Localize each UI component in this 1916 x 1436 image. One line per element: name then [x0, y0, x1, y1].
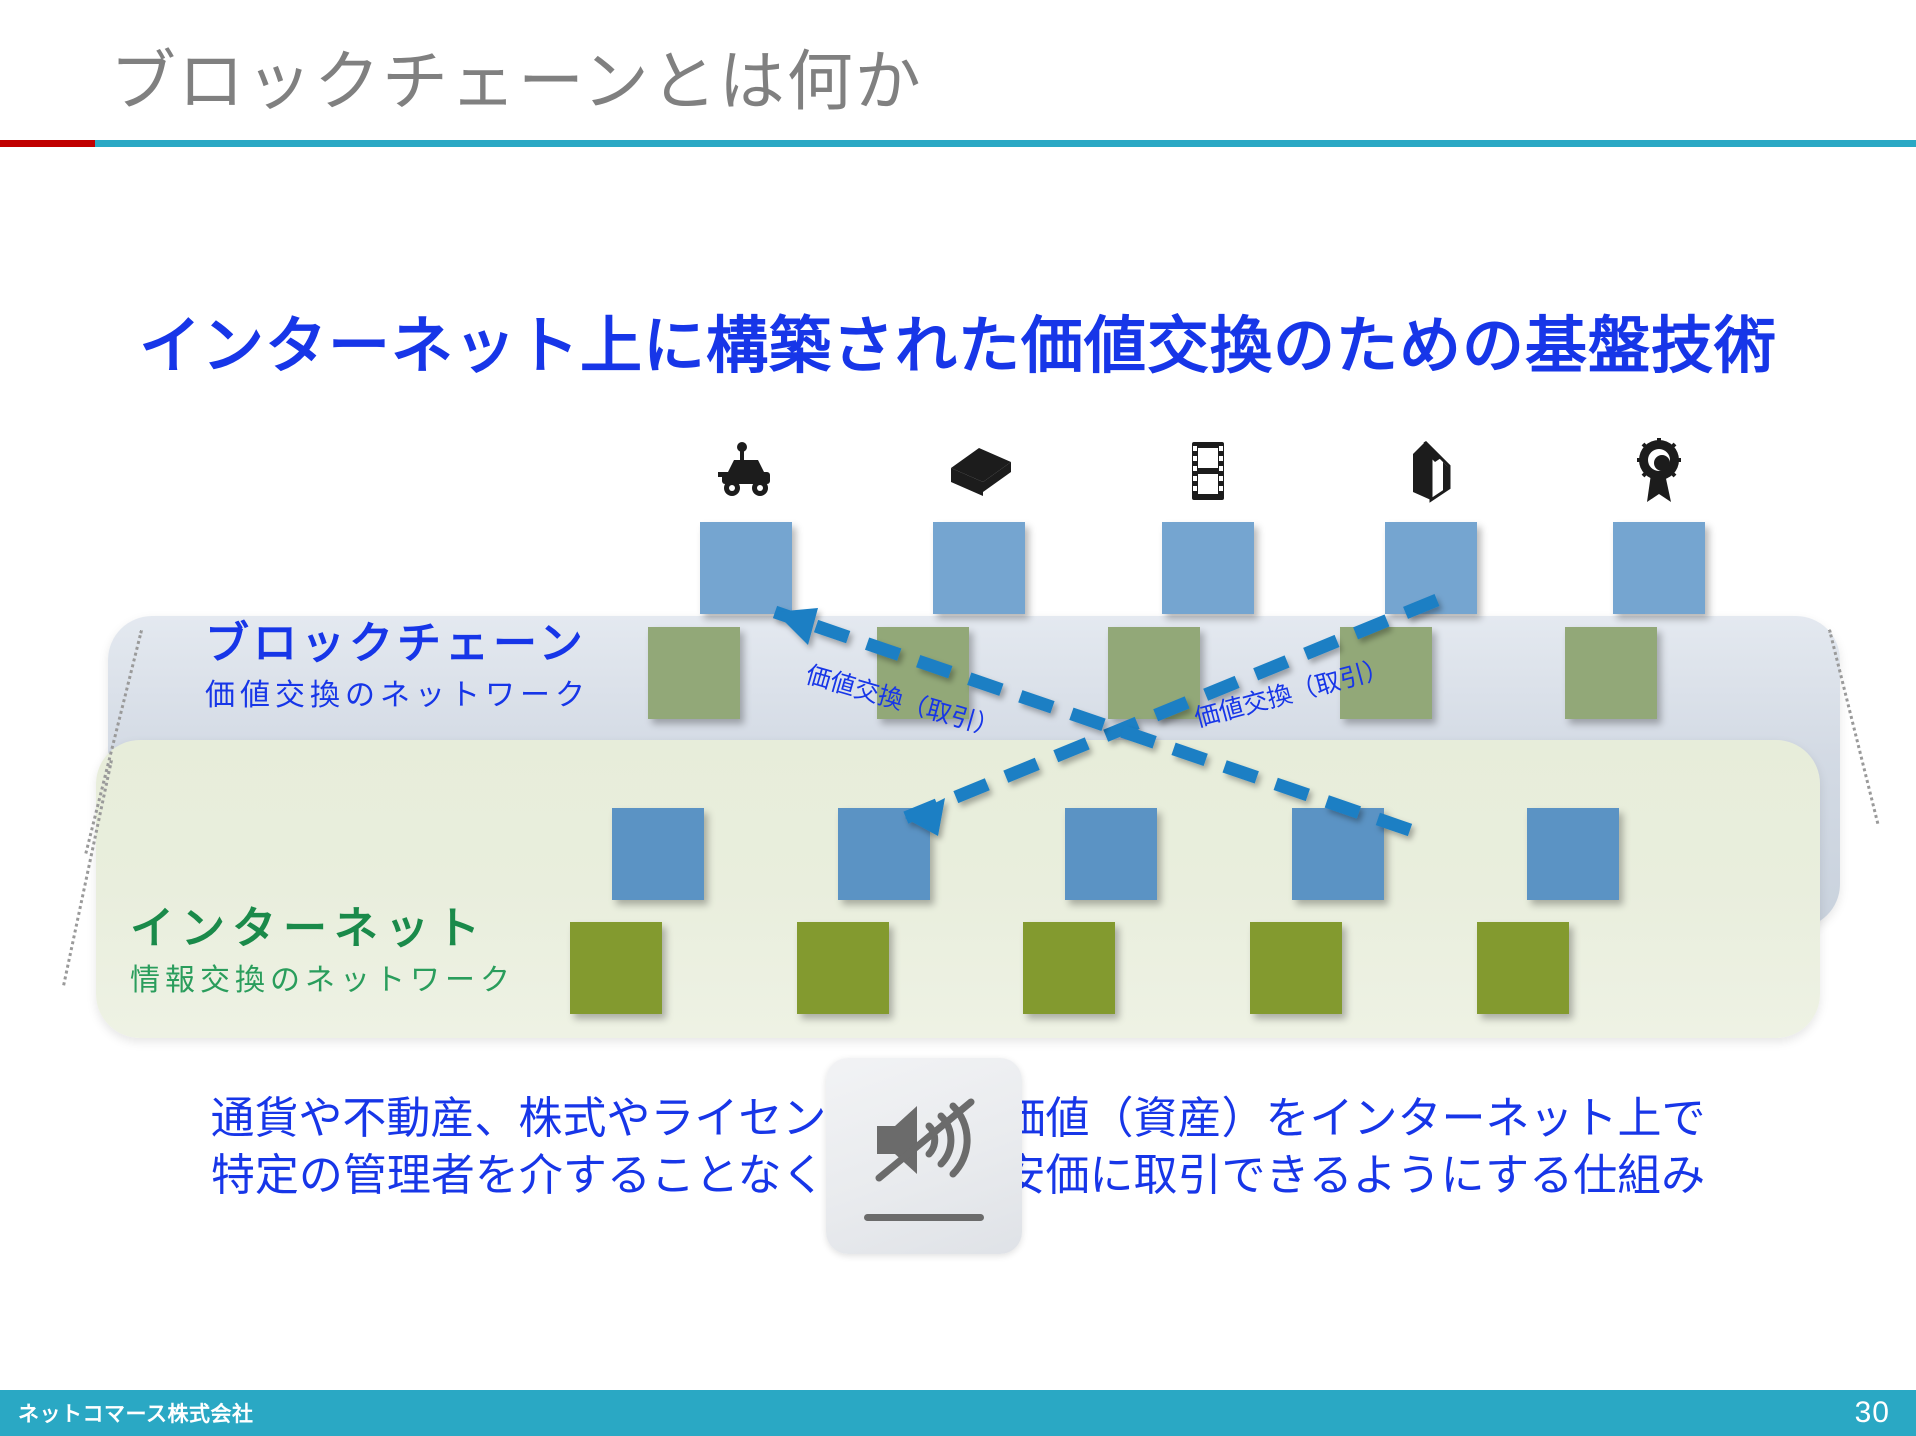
- internet-layer-name: インターネット: [130, 905, 515, 953]
- internet-node-blue: [1065, 808, 1157, 900]
- house-icon: [1385, 438, 1477, 504]
- blockchain-node: [700, 522, 792, 614]
- blockchain-node: [1385, 522, 1477, 614]
- speaker-mute-icon: [865, 1092, 983, 1188]
- blockchain-layer-label: ブロックチェーン 価値交換のネットワーク: [205, 620, 590, 714]
- page-title: ブロックチェーンとは何か: [110, 28, 923, 124]
- internet-layer-subtitle: 情報交換のネットワーク: [130, 955, 515, 999]
- footer-page-number: 30: [1855, 1396, 1890, 1430]
- internet-node-blue: [612, 808, 704, 900]
- speaker-mute-overlay[interactable]: [826, 1058, 1022, 1254]
- main-heading: インターネット上に構築された価値交換のための基盤技術: [0, 295, 1916, 385]
- film-icon: [1162, 438, 1254, 504]
- title-divider: [0, 140, 1916, 147]
- internet-node-olive: [1477, 922, 1569, 1014]
- book-icon: [933, 442, 1025, 504]
- slide-footer: ネットコマース株式会社 30: [0, 1390, 1916, 1436]
- internet-node-olive: [1250, 922, 1342, 1014]
- internet-node-blue: [1292, 808, 1384, 900]
- blockchain-node: [1613, 522, 1705, 614]
- overlay-progress-bar[interactable]: [864, 1214, 984, 1221]
- internet-node-olive: [1023, 922, 1115, 1014]
- internet-node-olive: [797, 922, 889, 1014]
- title-divider-teal-segment: [95, 140, 1916, 147]
- footer-company-name: ネットコマース株式会社: [18, 1398, 253, 1428]
- internet-node-blue: [838, 808, 930, 900]
- blockchain-node-secondary: [648, 627, 740, 719]
- title-divider-red-segment: [0, 140, 95, 147]
- blockchain-layer-subtitle: 価値交換のネットワーク: [205, 670, 590, 714]
- rosette-icon: [1613, 436, 1705, 504]
- blockchain-node-secondary: [1565, 627, 1657, 719]
- internet-node-blue: [1527, 808, 1619, 900]
- blockchain-layer-name: ブロックチェーン: [205, 620, 590, 668]
- blockchain-node: [1162, 522, 1254, 614]
- internet-node-olive: [570, 922, 662, 1014]
- internet-layer-label: インターネット 情報交換のネットワーク: [130, 905, 515, 999]
- car-icon: [700, 442, 792, 504]
- blockchain-node: [933, 522, 1025, 614]
- blockchain-node-secondary: [1108, 627, 1200, 719]
